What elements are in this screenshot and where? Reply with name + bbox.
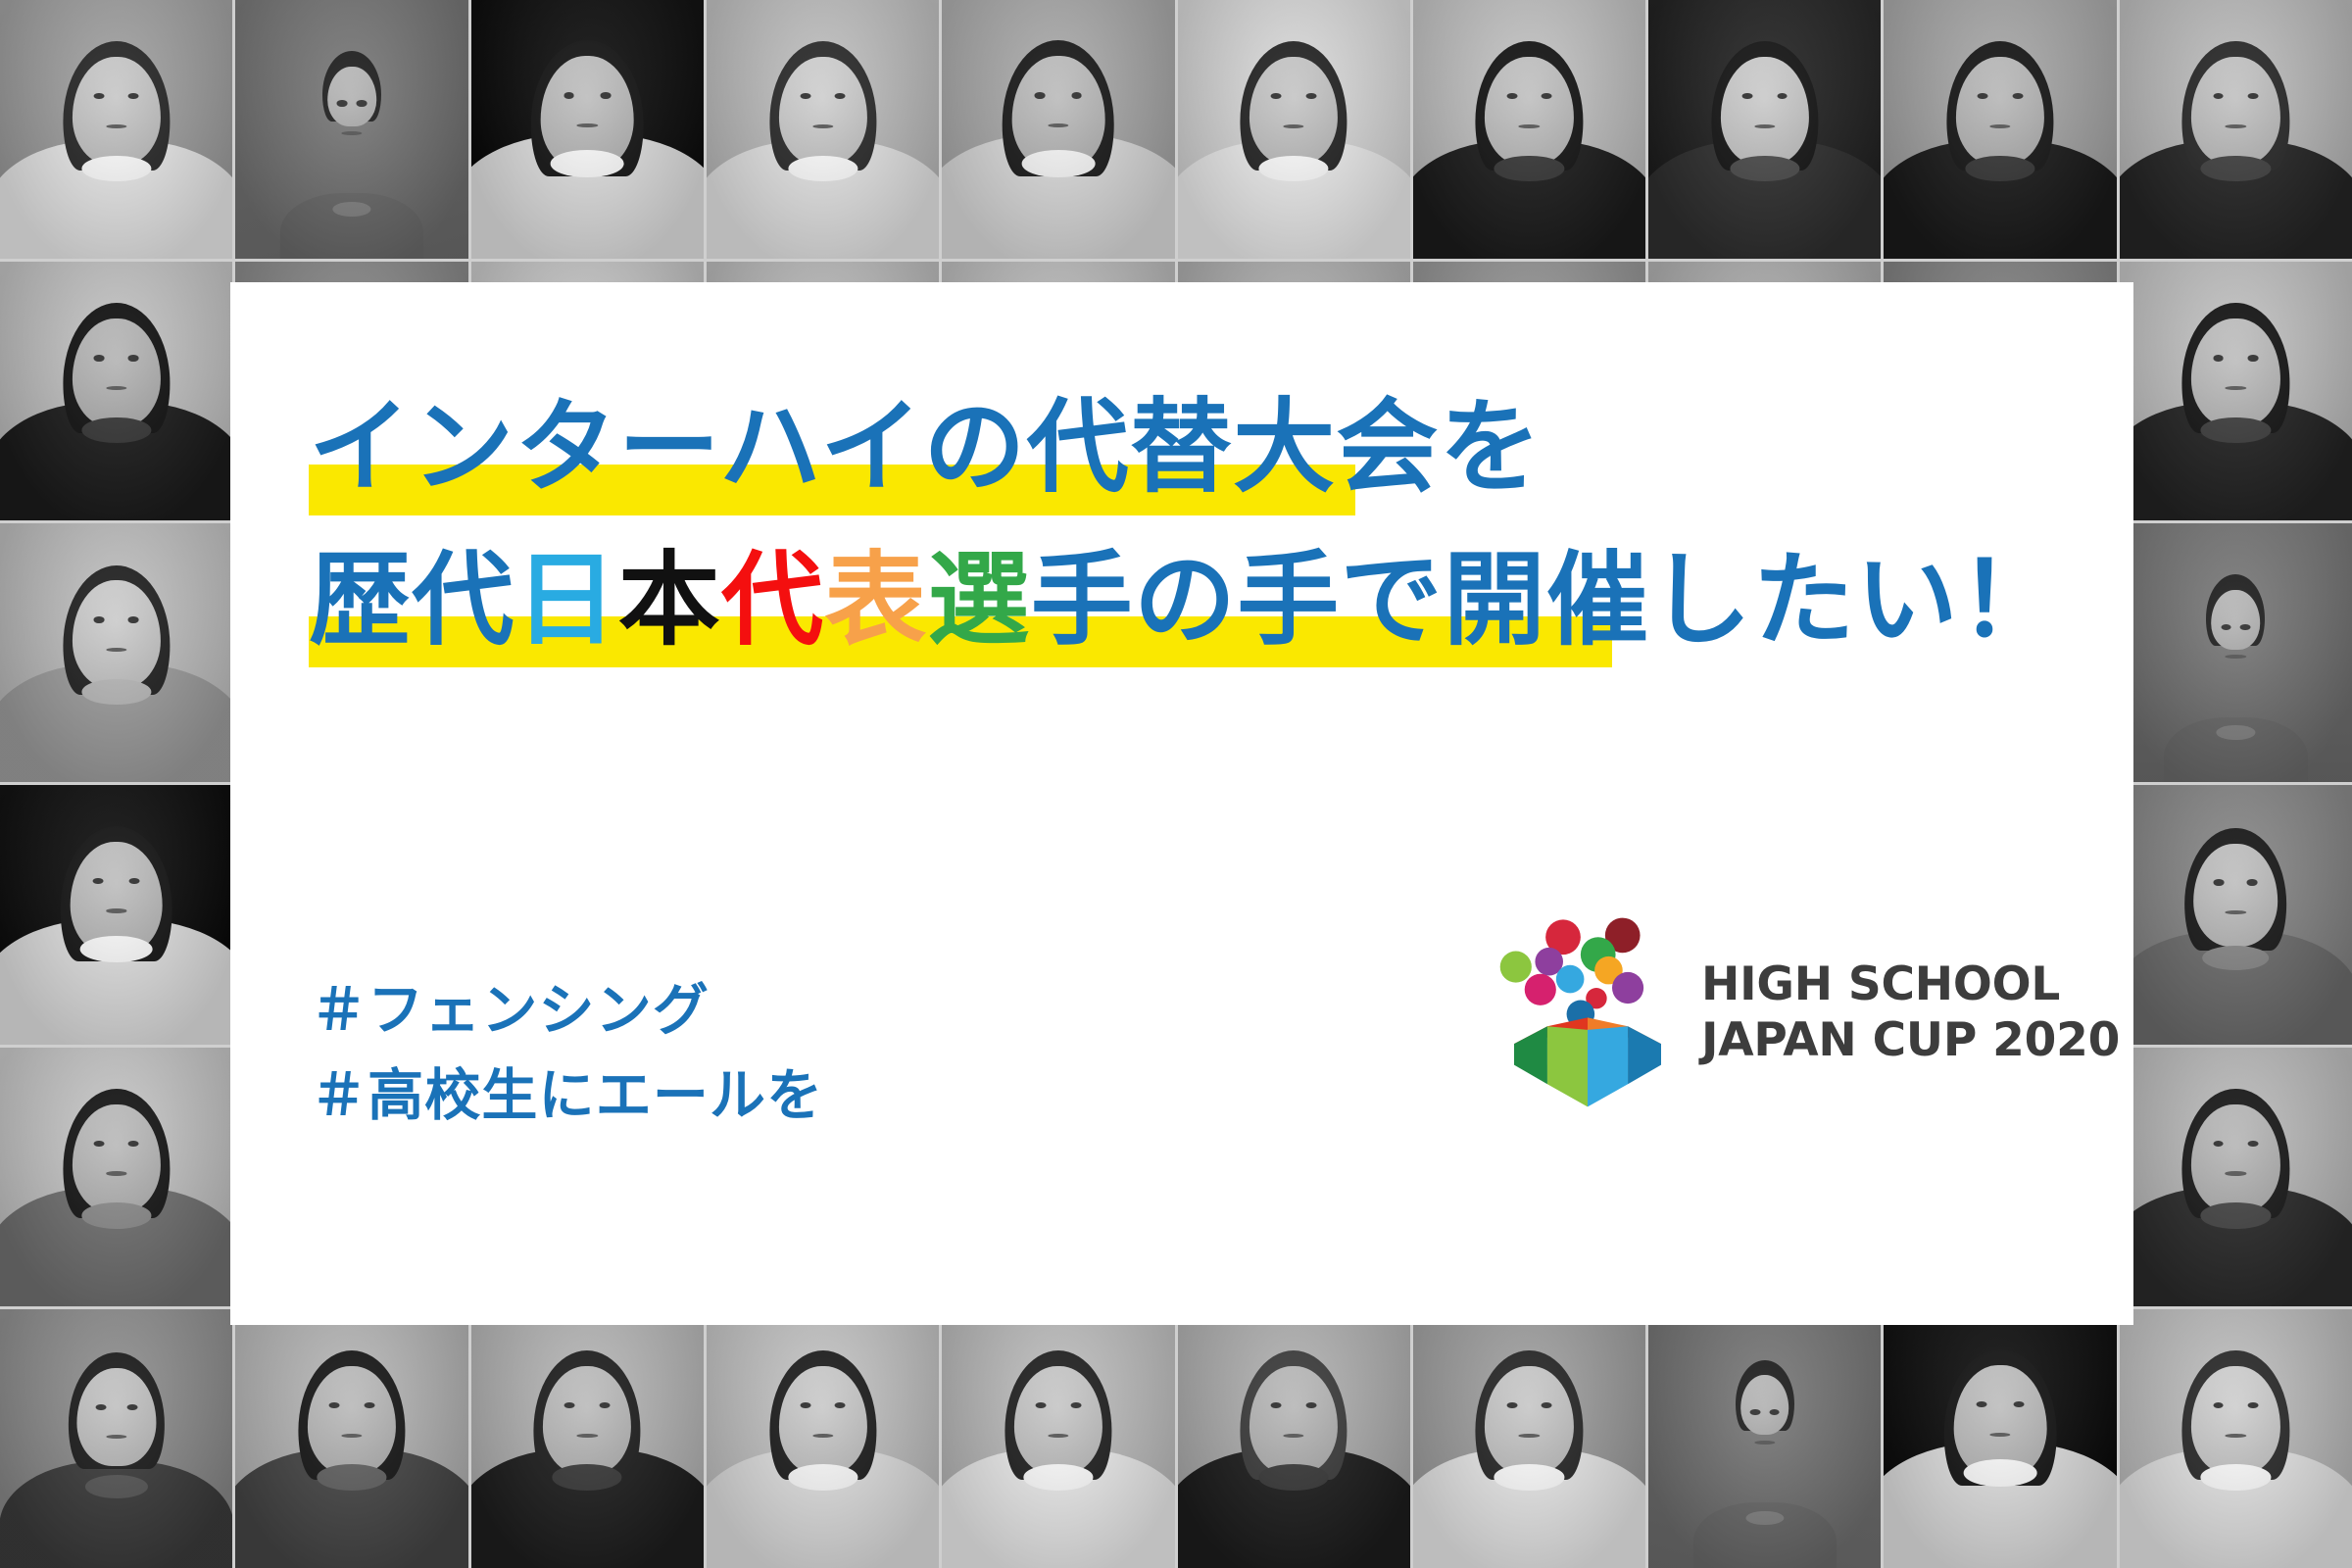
headline-char-7: 手 bbox=[1031, 540, 1134, 660]
portrait-coach-man-black-top bbox=[1884, 0, 2116, 259]
headline-char-11: 開 bbox=[1444, 540, 1546, 660]
portrait-young-man-jacket bbox=[2120, 262, 2352, 520]
portrait-fencer-woman-smiling bbox=[2120, 1309, 2352, 1568]
portrait-coach-woman-white bbox=[1178, 0, 1410, 259]
portrait-woman-light-top bbox=[707, 1309, 939, 1568]
headline-char-4: 代 bbox=[721, 540, 824, 660]
portrait-fencer-woman-helmet bbox=[0, 0, 232, 259]
headline-char-6: 選 bbox=[928, 540, 1031, 660]
portrait-woman-on-court bbox=[0, 1309, 232, 1568]
headline-char-0: 歴 bbox=[309, 540, 412, 660]
portrait-young-man-portrait bbox=[0, 1048, 232, 1306]
portrait-softball-pitcher bbox=[235, 0, 467, 259]
headline-text: インターハイの代替大会を bbox=[309, 387, 1543, 507]
logo-line-2: JAPAN CUP 2020 bbox=[1701, 1012, 2120, 1068]
portrait-softball-pitcher bbox=[2120, 523, 2352, 782]
headline-char-13: し bbox=[1649, 540, 1752, 660]
portrait-fencer-man-jacket bbox=[942, 0, 1174, 259]
confetti-box-icon bbox=[1499, 914, 1676, 1110]
portrait-woman-bowling-alley bbox=[2120, 785, 2352, 1044]
portrait-fencer-man-dark-bg bbox=[471, 0, 704, 259]
headline-char-15: い bbox=[1856, 540, 1959, 660]
confetti-dot-8 bbox=[1612, 972, 1643, 1004]
headline-line-1: インターハイの代替大会を bbox=[309, 396, 1543, 498]
hashtag-list: ＃フェンシング ＃高校生にエールを bbox=[311, 968, 823, 1138]
headline-char-5: 表 bbox=[824, 540, 927, 660]
high-school-japan-cup-logo: HIGH SCHOOL JAPAN CUP 2020 bbox=[1499, 900, 2048, 1125]
portrait-woman-white-jacket bbox=[942, 1309, 1174, 1568]
headline-char-10: で bbox=[1341, 540, 1444, 660]
headline-char-14: た bbox=[1753, 540, 1856, 660]
portrait-fencer-man-dark-bg bbox=[0, 785, 232, 1044]
headline-char-2: 日 bbox=[515, 540, 618, 660]
portrait-senior-man-moustache bbox=[1178, 1309, 1410, 1568]
headline-char-3: 本 bbox=[618, 540, 721, 660]
portrait-athlete-woman-short bbox=[1648, 0, 1881, 259]
portrait-official-man-suit bbox=[2120, 0, 2352, 259]
portrait-man-grey-shirt bbox=[235, 1309, 467, 1568]
portrait-woman-smiling-long bbox=[0, 523, 232, 782]
confetti-dot-6 bbox=[1556, 965, 1585, 994]
portrait-fencer-man-dark-bg bbox=[1884, 1309, 2116, 1568]
headline-char-16: ！ bbox=[1959, 540, 2062, 660]
headline-line-2: 歴代日本代表選手の手で開催したい！ bbox=[309, 549, 2062, 651]
headline-char-8: の bbox=[1134, 540, 1237, 660]
confetti-dot-7 bbox=[1525, 974, 1556, 1005]
portrait-athlete-man-smiling bbox=[1413, 0, 1645, 259]
portrait-man-glasses-tracksuit bbox=[471, 1309, 704, 1568]
content-panel: インターハイの代替大会を 歴代日本代表選手の手で開催したい！ ＃フェンシング ＃… bbox=[230, 282, 2133, 1325]
headline-char-12: 催 bbox=[1546, 540, 1649, 660]
portrait-man-fencing-collar bbox=[2120, 1048, 2352, 1306]
headline-char-1: 代 bbox=[412, 540, 514, 660]
logo-line-1: HIGH SCHOOL bbox=[1701, 956, 2120, 1012]
confetti-dot-3 bbox=[1500, 952, 1532, 983]
hashtag-fencing[interactable]: ＃フェンシング bbox=[311, 968, 823, 1053]
portrait-softball-pitcher bbox=[1648, 1309, 1881, 1568]
logo-wordmark: HIGH SCHOOL JAPAN CUP 2020 bbox=[1701, 956, 2120, 1069]
headline-char-9: 手 bbox=[1237, 540, 1340, 660]
hashtag-cheer-highschoolers[interactable]: ＃高校生にエールを bbox=[311, 1053, 823, 1139]
portrait-coach-man-portrait bbox=[0, 262, 232, 520]
portrait-fencer-woman-helmet bbox=[1413, 1309, 1645, 1568]
portrait-fencer-woman-smiling bbox=[707, 0, 939, 259]
